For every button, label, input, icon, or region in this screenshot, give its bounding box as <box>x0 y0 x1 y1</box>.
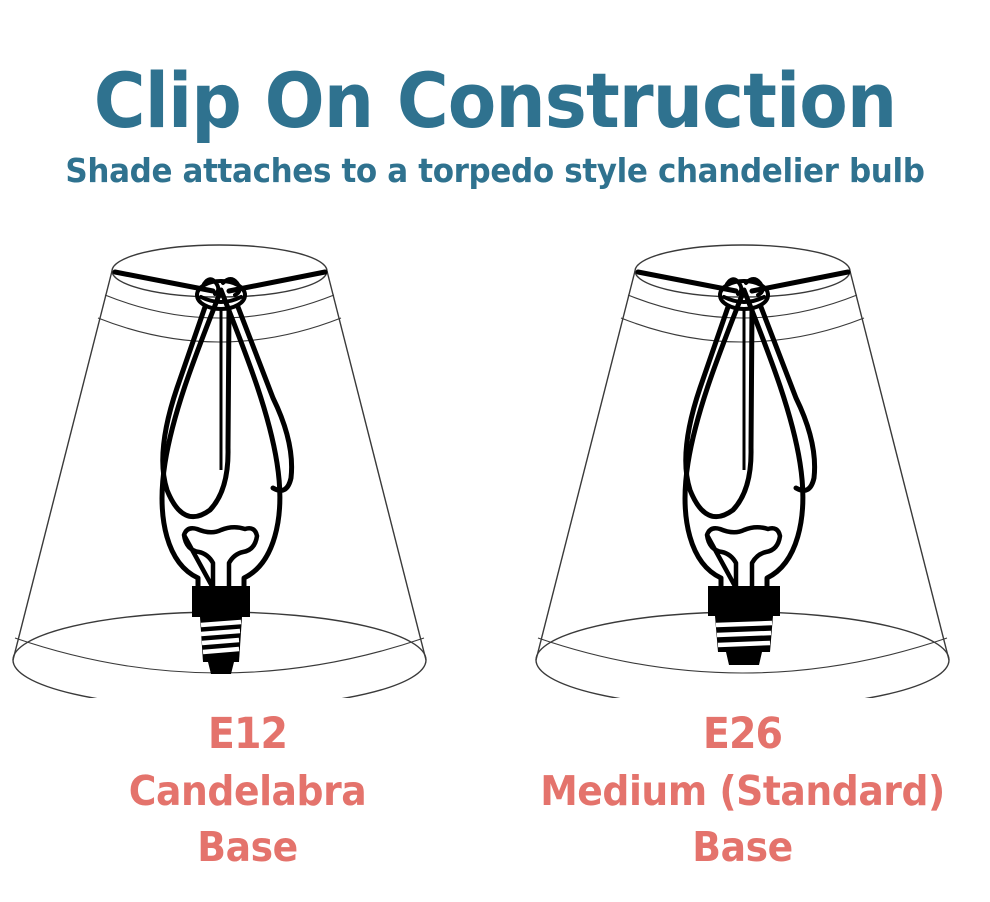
screw-base-e12 <box>192 586 250 674</box>
caption-e12: E12 Candelabra Base <box>0 705 495 875</box>
bulb-base-e26: Base <box>515 819 970 875</box>
figure-e12-lampshade <box>5 238 455 698</box>
screw-base-e26 <box>708 586 780 665</box>
page-subtitle: Shade attaches to a torpedo style chande… <box>30 151 961 191</box>
bulb-code-e26: E26 <box>515 705 970 763</box>
bulb-name-e12: Candelabra <box>20 763 475 819</box>
lampshade-clip-bulb-illustration-e26 <box>528 238 978 698</box>
clip-on-construction-infographic: Clip On Construction Shade attaches to a… <box>0 0 990 902</box>
page-title: Clip On Construction <box>35 59 956 143</box>
wire-clip-arms-lower <box>163 307 292 517</box>
caption-row: E12 Candelabra Base E26 Medium (Standard… <box>0 705 990 895</box>
illustration-row <box>0 238 990 698</box>
bulb-base-e12: Base <box>20 819 475 875</box>
figure-e26-lampshade <box>528 238 978 698</box>
bulb-name-e26: Medium (Standard) <box>515 763 970 819</box>
bulb-code-e12: E12 <box>20 705 475 763</box>
wire-clip-arms-lower <box>686 307 815 517</box>
caption-e26: E26 Medium (Standard) Base <box>495 705 990 875</box>
lampshade-clip-bulb-illustration-e12 <box>5 238 455 698</box>
